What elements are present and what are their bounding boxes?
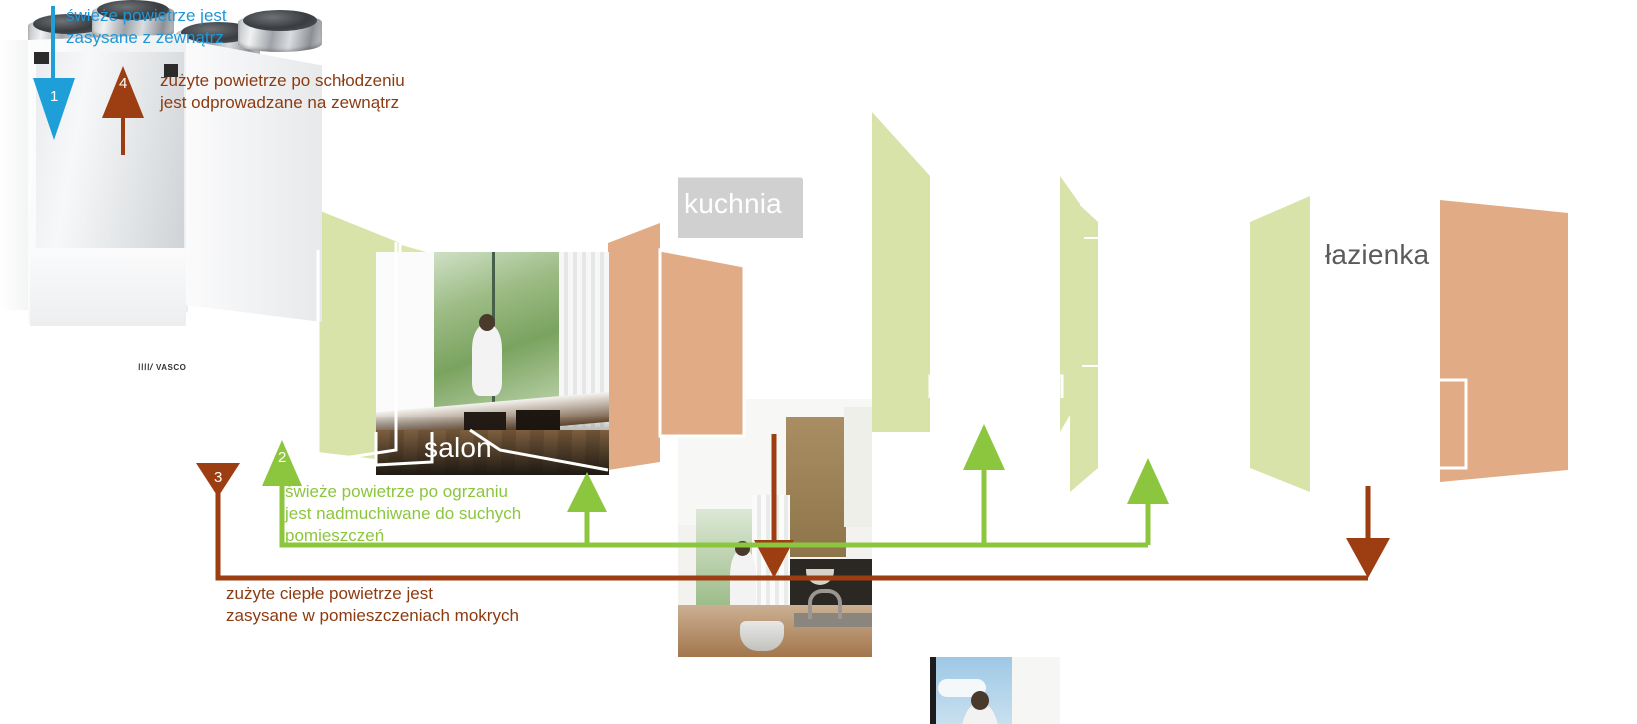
badge-3: 3 (214, 470, 222, 485)
badge-1: 1 (50, 89, 58, 104)
badge-4: 4 (119, 76, 127, 91)
annotation-text-2: świeże powietrze po ogrzaniu jest nadmuc… (285, 481, 585, 546)
arrow-4-head-icon (102, 66, 144, 118)
supply-arrow-sypialnia-icon (1127, 458, 1169, 504)
annotation-text-1: świeże powietrze jest zasysane z zewnątr… (66, 5, 346, 49)
extract-arrow-lazienka-icon (1346, 538, 1390, 578)
annotation-text-4: zużyte powietrze po schłodzeniu jest odp… (160, 70, 580, 114)
ventilation-diagram: \\\\/ VASCO salon (0, 0, 1637, 724)
supply-arrow-corridor-icon (963, 424, 1005, 470)
annotation-text-3: zużyte ciepłe powietrze jest zasysane w … (226, 583, 696, 627)
badge-2: 2 (278, 450, 286, 465)
